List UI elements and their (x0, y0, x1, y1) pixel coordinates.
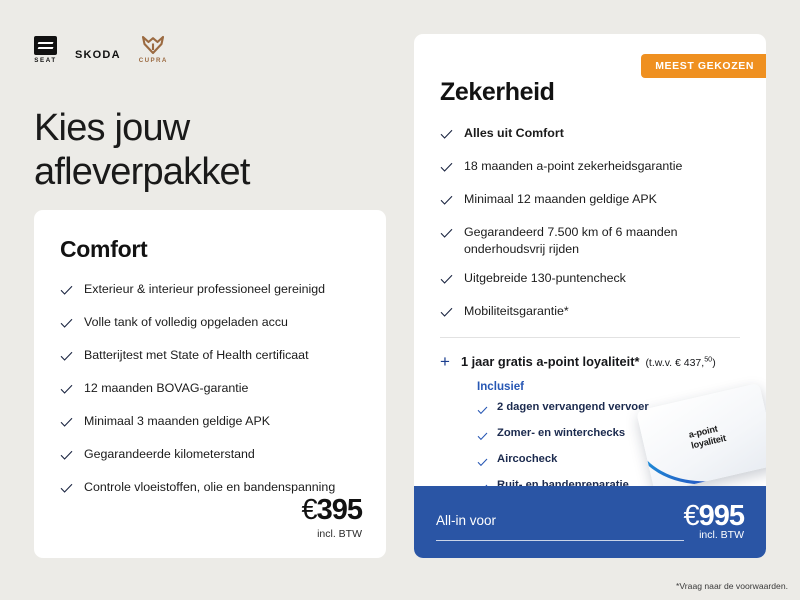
list-item-label: Zomer- en winterchecks (497, 426, 625, 440)
check-icon (60, 316, 73, 334)
footnote: *Vraag naar de voorwaarden. (676, 581, 788, 591)
brand-logo-row: SEAT SKODA CUPRA (34, 30, 400, 64)
headline-line-1: Kies jouw (34, 107, 189, 149)
check-icon (440, 272, 453, 290)
currency-symbol: € (683, 500, 698, 532)
status-badge: MEEST GEKOZEN (641, 54, 766, 78)
all-in-label: All-in voor (436, 513, 496, 528)
zekerheid-price: €995 (683, 502, 744, 531)
seat-logo-icon (34, 36, 57, 55)
zekerheid-price-value: 995 (699, 500, 744, 532)
zekerheid-price-footer: All-in voor €995 incl. BTW (414, 486, 766, 558)
list-item: Gegarandeerd 7.500 km of 6 maanden onder… (440, 224, 740, 257)
seat-logo-label: SEAT (34, 57, 56, 64)
check-icon (477, 454, 488, 472)
cupra-logo-icon (141, 35, 165, 55)
list-item: 12 maanden BOVAG-garantie (60, 380, 360, 400)
check-icon (60, 415, 73, 433)
comfort-price-value: 395 (317, 494, 362, 526)
list-item: Zomer- en winterchecks (477, 426, 740, 446)
zekerheid-title: Zekerheid (440, 78, 740, 107)
bonus-value: (t.w.v. € 437,50) (645, 357, 715, 369)
headline-line-2: afleverpakket (34, 151, 250, 193)
list-item-label: 18 maanden a-point zekerheidsgarantie (464, 158, 682, 175)
list-item-label: Alles uit Comfort (464, 125, 564, 142)
comfort-feature-list: Exterieur & interieur professioneel gere… (60, 281, 360, 499)
comfort-price-note: incl. BTW (301, 528, 362, 540)
list-item-label: 2 dagen vervangend vervoer (497, 400, 649, 414)
list-item-label: Controle vloeistoffen, olie en bandenspa… (84, 479, 335, 496)
check-icon (477, 402, 488, 420)
list-item: Aircocheck (477, 452, 740, 472)
list-item-label: Aircocheck (497, 452, 557, 466)
list-item: Minimaal 12 maanden geldige APK (440, 191, 740, 211)
bonus-label: 1 jaar gratis a-point loyaliteit* (461, 354, 640, 369)
list-item: Volle tank of volledig opgeladen accu (60, 314, 360, 334)
list-item-label: 12 maanden BOVAG-garantie (84, 380, 248, 397)
list-item: 18 maanden a-point zekerheidsgarantie (440, 158, 740, 178)
list-item-label: Exterieur & interieur professioneel gere… (84, 281, 325, 298)
zekerheid-package-card[interactable]: MEEST GEKOZEN Zekerheid Alles uit Comfor… (414, 34, 766, 558)
zekerheid-price-note: incl. BTW (699, 529, 744, 541)
seat-logo: SEAT (34, 36, 57, 64)
list-item: Alles uit Comfort (440, 125, 740, 145)
cupra-logo-label: CUPRA (139, 57, 168, 64)
check-icon (60, 481, 73, 499)
list-item: Minimaal 3 maanden geldige APK (60, 413, 360, 433)
bonus-value-suffix: ) (712, 357, 716, 369)
list-item-label: Gegarandeerde kilometerstand (84, 446, 255, 463)
list-item: Mobiliteitsgarantie* (440, 303, 740, 323)
list-item-label: Minimaal 12 maanden geldige APK (464, 191, 657, 208)
check-icon (60, 349, 73, 367)
cupra-logo: CUPRA (139, 35, 168, 64)
list-item: 2 dagen vervangend vervoer (477, 400, 740, 420)
check-icon (440, 160, 453, 178)
list-item: Batterijtest met State of Health certifi… (60, 347, 360, 367)
list-item-label: Minimaal 3 maanden geldige APK (84, 413, 270, 430)
check-icon (440, 193, 453, 211)
currency-symbol: € (301, 494, 316, 526)
skoda-logo-icon: SKODA (75, 49, 121, 64)
list-item: Gegarandeerde kilometerstand (60, 446, 360, 466)
bonus-value-prefix: (t.w.v. € 437, (645, 357, 704, 369)
list-item-label: Uitgebreide 130-puntencheck (464, 270, 626, 287)
divider (436, 540, 684, 541)
price-row: All-in voor €995 (436, 502, 744, 531)
check-icon (440, 226, 453, 244)
page-title: Kies jouw afleverpakket (34, 106, 400, 195)
list-item-label: Volle tank of volledig opgeladen accu (84, 314, 288, 331)
check-icon (60, 382, 73, 400)
bonus-row: + 1 jaar gratis a-point loyaliteit*(t.w.… (440, 352, 740, 371)
inclusief-block: Inclusief 2 dagen vervangend vervoer Zom… (477, 380, 740, 498)
list-item-label: Gegarandeerd 7.500 km of 6 maanden onder… (464, 224, 740, 257)
inclusief-title: Inclusief (477, 380, 740, 393)
comfort-price: €395 (301, 496, 362, 525)
list-item-label: Batterijtest met State of Health certifi… (84, 347, 309, 364)
check-icon (440, 305, 453, 323)
check-icon (60, 448, 73, 466)
list-item-label: Mobiliteitsgarantie* (464, 303, 569, 320)
comfort-title: Comfort (60, 236, 360, 263)
check-icon (440, 127, 453, 145)
check-icon (477, 428, 488, 446)
divider (440, 337, 740, 338)
comfort-package-card[interactable]: Comfort Exterieur & interieur profession… (34, 210, 386, 558)
list-item: Uitgebreide 130-puntencheck (440, 270, 740, 290)
bonus-value-cents: 50 (704, 355, 712, 364)
comfort-price-block: €395 incl. BTW (301, 496, 362, 540)
list-item: Exterieur & interieur professioneel gere… (60, 281, 360, 301)
zekerheid-feature-list: Alles uit Comfort 18 maanden a-point zek… (440, 125, 740, 323)
check-icon (60, 283, 73, 301)
plus-icon: + (440, 353, 450, 370)
